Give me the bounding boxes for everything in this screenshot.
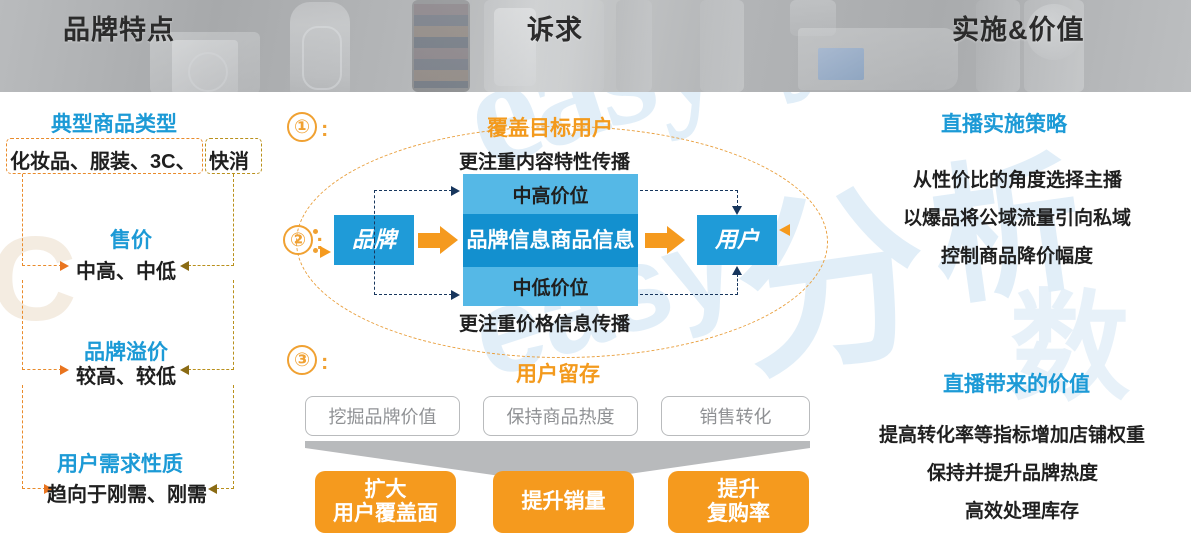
arrow-demand-in-right xyxy=(208,484,217,494)
navy-connector-brand-down xyxy=(374,240,375,295)
retention-pill-3[interactable]: 销售转化 xyxy=(661,396,810,436)
product-type-main-value: 化妆品、服装、3C、 xyxy=(10,145,196,174)
arrow-feedback-into-user xyxy=(779,224,790,236)
user-box-label: 用户 xyxy=(715,228,759,253)
product-image-fridge-contents xyxy=(414,4,468,88)
navy-arrow-into-user-top xyxy=(732,206,742,215)
right-strategy-line-3: 控制商品降价幅度 xyxy=(941,241,1093,268)
left-group-value-price: 中高、中低 xyxy=(76,255,176,284)
step2-dot-upper xyxy=(313,229,318,234)
watermark-fragment-f: C xyxy=(0,210,77,348)
connector-product-type-to-price xyxy=(22,174,23,266)
navy-arrow-into-high-tier xyxy=(451,186,460,196)
right-value-line-1: 提高转化率等指标增加店铺权重 xyxy=(879,420,1145,447)
arrow-head xyxy=(667,226,685,254)
arrow-price-in-right xyxy=(180,261,189,271)
product-image-socket-ring xyxy=(188,52,228,92)
left-group-value-premium: 较高、较低 xyxy=(76,360,176,389)
step-colon-1: : xyxy=(321,118,328,140)
retention-pill-1[interactable]: 挖掘品牌价值 xyxy=(305,396,460,436)
navy-connector-brand-to-high xyxy=(374,190,452,191)
right-section-heading-strategy: 直播实施策略 xyxy=(941,108,1067,138)
user-box: 用户 xyxy=(697,215,777,265)
left-group-heading-demand: 用户需求性质 xyxy=(57,448,183,478)
left-group-heading-price: 售价 xyxy=(110,224,152,254)
left-group-heading-product-type: 典型商品类型 xyxy=(51,108,177,138)
result-box-increase-sales[interactable]: 提升销量 xyxy=(493,471,634,533)
step-number-1: ① xyxy=(287,112,317,142)
stack-tier-high: 中高价位 xyxy=(463,174,638,214)
info-stack: 中高价位 品牌信息 商品信息 中低价位 xyxy=(463,174,638,306)
connector-price-to-premium-right xyxy=(233,280,234,370)
connector-price-horizontal-left xyxy=(22,265,62,266)
header-title-brand-features: 品牌特点 xyxy=(63,8,175,47)
arrow-brand-to-info xyxy=(418,226,462,255)
right-value-line-3: 高效处理库存 xyxy=(965,496,1079,523)
navy-connector-low-to-user xyxy=(640,294,738,295)
product-image-hood-screen xyxy=(818,48,864,80)
step2-dot-lower xyxy=(313,248,318,253)
result-3-line1: 提升 xyxy=(718,478,760,501)
navy-connector-brand-to-low xyxy=(374,294,452,295)
connector-premium-to-demand-right xyxy=(233,385,234,489)
result-3-line2: 复购率 xyxy=(707,502,770,525)
navy-arrow-into-low-tier xyxy=(451,290,460,300)
stack-tier-middle: 品牌信息 商品信息 xyxy=(463,214,638,267)
caption-content-focus: 更注重内容特性传播 xyxy=(459,147,630,174)
header-title-appeal: 诉求 xyxy=(527,8,583,47)
connector-premium-horizontal-left xyxy=(22,369,62,370)
stack-tier-low: 中低价位 xyxy=(463,267,638,306)
product-image-column-b xyxy=(700,0,744,92)
connector-price-to-premium xyxy=(22,280,23,370)
slide-canvas: C easysys easy 分 析 数 品牌特点 诉求 实施&价值 典型商品类… xyxy=(0,0,1191,540)
arrow-shaft xyxy=(418,233,442,248)
arrow-price-in-left xyxy=(60,261,69,271)
product-type-alt-value: 快消 xyxy=(209,145,249,174)
result-1-line1: 扩大 xyxy=(365,478,407,501)
step-number-2: ② xyxy=(283,225,313,255)
result-2-line1: 提升销量 xyxy=(522,490,606,514)
retention-pill-2[interactable]: 保持商品热度 xyxy=(483,396,638,436)
arrow-shaft xyxy=(645,233,669,248)
navy-connector-low-up xyxy=(737,274,738,295)
header-banner: 品牌特点 诉求 实施&价值 xyxy=(0,0,1191,92)
right-strategy-line-2: 以爆品将公域流量引向私域 xyxy=(903,203,1131,230)
arrow-head xyxy=(440,226,458,254)
right-value-line-2: 保持并提升品牌热度 xyxy=(927,458,1098,485)
product-image-purifier-inner xyxy=(302,26,342,90)
left-group-value-demand: 趋向于刚需、刚需 xyxy=(47,478,207,507)
result-box-increase-repurchase[interactable]: 提升 复购率 xyxy=(668,471,809,533)
arrow-step2-into-brand xyxy=(320,246,331,258)
step1-label-coverage: 覆盖目标用户 xyxy=(487,112,613,142)
result-1-line2: 用户覆盖面 xyxy=(333,502,438,525)
arrow-premium-in-left xyxy=(60,365,69,375)
caption-price-focus: 更注重价格信息传播 xyxy=(459,309,630,336)
navy-connector-brand-up xyxy=(374,190,375,240)
right-strategy-line-1: 从性价比的角度选择主播 xyxy=(913,165,1122,192)
connector-alt-to-price xyxy=(233,174,234,266)
result-box-expand-coverage[interactable]: 扩大 用户覆盖面 xyxy=(315,471,456,533)
connector-premium-horizontal-right xyxy=(188,369,234,370)
navy-arrow-into-user-bottom xyxy=(732,266,742,275)
stack-middle-line1: 品牌信息 xyxy=(467,228,551,253)
right-section-heading-value: 直播带来的价值 xyxy=(943,368,1090,398)
step-number-3: ③ xyxy=(287,345,317,375)
stack-middle-line2: 商品信息 xyxy=(551,228,635,253)
arrow-premium-in-right xyxy=(180,365,189,375)
step3-label-retention: 用户留存 xyxy=(516,358,600,388)
connector-demand-horizontal-left xyxy=(22,488,46,489)
product-image-column-a xyxy=(616,0,652,92)
navy-connector-high-to-user xyxy=(640,190,738,191)
connector-price-horizontal-right xyxy=(188,265,234,266)
step-colon-3: : xyxy=(321,351,328,373)
connector-demand-horizontal-right xyxy=(216,488,234,489)
header-title-implementation-value: 实施&价值 xyxy=(952,8,1085,47)
arrow-info-to-user xyxy=(645,226,689,255)
connector-premium-to-demand xyxy=(22,385,23,489)
